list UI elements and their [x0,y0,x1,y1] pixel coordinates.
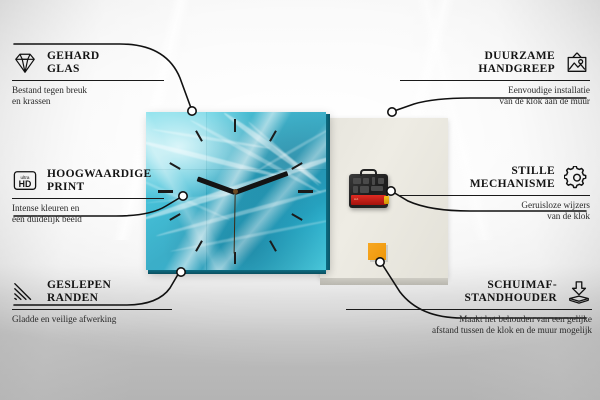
clock-edge-right [326,114,330,270]
feature-desc-line1: Intense kleuren en [12,203,164,214]
feature-divider [400,195,590,196]
feature-title-line1: SCHUIMAF- [465,279,557,292]
feature-title-line1: GESLEPEN [47,279,111,292]
feature-desc-line2: en krassen [12,96,164,107]
feature-title-line2: RANDEN [47,292,111,305]
feature-desc-line1: Maakt het behouden van een gelijke [346,314,592,325]
feature-title-line1: DUURZAME [478,50,555,63]
foam-spacer-part [368,243,386,260]
battery-terminal [384,196,389,204]
infographic-stage: AA [0,0,600,400]
bevelled-edge-icon [12,280,38,304]
feature-desc-line2: van de klok [400,211,590,222]
feature-callout-geslepen-randen: GESLEPEN RANDEN Gladde en veilige afwerk… [12,279,172,325]
feature-desc-line1: Geruisloze wijzers [400,200,590,211]
clock-tick [298,190,313,193]
glass-wall-clock [146,112,326,270]
clock-battery: AA [351,195,386,205]
gear-icon [564,166,590,190]
feature-desc-line2: een duidelijk beeld [12,214,164,225]
ultra-hd-icon-bottom: HD [19,179,32,189]
clock-edge-bottom [148,270,326,274]
feature-desc-line1: Eenvoudige installatie [400,85,590,96]
feature-desc-line2: van de klok aan de muur [400,96,590,107]
movement-hanger [360,169,377,176]
feature-divider [400,80,590,81]
clock-tick [234,252,236,264]
clock-print-surface [146,112,326,270]
foam-spacer-icon [566,280,592,304]
clock-tick [234,119,236,132]
feature-title-line2: STANDHOUDER [465,292,557,305]
feature-title-line1: STILLE [470,165,555,178]
feature-title-line2: PRINT [47,181,152,194]
feature-title-line2: HANDGREEP [478,63,555,76]
feature-title-line1: GEHARD [47,50,100,63]
feature-callout-duurzame-handgreep: DUURZAME HANDGREEP Eenvoudige installati… [400,50,590,108]
battery-label: AA [354,197,358,201]
feature-callout-gehard-glas: GEHARD GLAS Bestand tegen breuk en krass… [12,50,164,108]
feature-divider [12,309,172,310]
feature-callout-hoogwaardige-print: ultra HD HOOGWAARDIGE PRINT Intense kleu… [12,168,164,226]
clock-hand-hub [233,189,238,194]
picture-hanger-icon [564,51,590,75]
ultra-hd-icon: ultra HD [12,169,38,193]
diamond-icon [12,51,38,75]
feature-callout-schuimafstandhouder: SCHUIMAF- STANDHOUDER Maakt het behouden… [346,279,592,337]
feature-title-line2: MECHANISME [470,178,555,191]
feature-title-line2: GLAS [47,63,100,76]
feature-desc-line2: afstand tussen de klok en de muur mogeli… [346,325,592,336]
feature-desc-line1: Bestand tegen breuk [12,85,164,96]
feature-divider [12,198,164,199]
feature-title-line1: HOOGWAARDIGE [47,168,152,181]
feature-divider [346,309,592,310]
feature-divider [12,80,164,81]
feature-callout-stille-mechanisme: STILLE MECHANISME Geruisloze wijzers van… [400,165,590,223]
clock-movement: AA [349,174,388,208]
feature-desc-line1: Gladde en veilige afwerking [12,314,172,325]
